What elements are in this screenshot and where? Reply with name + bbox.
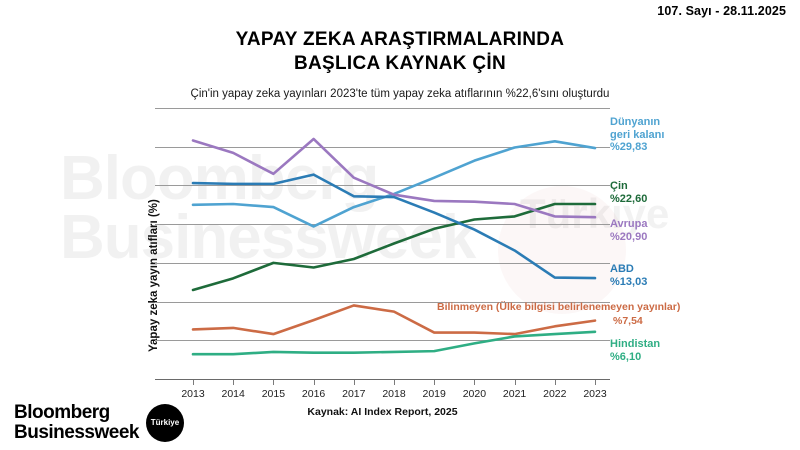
series-end-value: %22,60 xyxy=(610,193,647,206)
x-axis-tick xyxy=(394,380,395,385)
x-axis-tick xyxy=(595,380,596,385)
series-annotation: Hindistan%6,10 xyxy=(610,338,660,363)
series-end-value: %13,03 xyxy=(610,276,647,289)
series-annotation: Çin%22,60 xyxy=(610,180,647,205)
issue-date-label: 107. Sayı - 28.11.2025 xyxy=(657,4,786,18)
series-label-bilinmeyen: Bilinmeyen (Ülke bilgisi belirlenemeyen … xyxy=(437,301,680,313)
x-axis-tick xyxy=(515,380,516,385)
x-axis-tick-label: 2015 xyxy=(262,388,285,400)
series-end-value: %29,83 xyxy=(610,141,664,154)
chart-source: Kaynak: AI Index Report, 2025 xyxy=(155,406,610,418)
series-value-bilinmeyen: %7,54 xyxy=(613,315,643,327)
chart-subtitle: Çin'in yapay zeka yayınları 2023'te tüm … xyxy=(0,88,800,100)
logo-line-1: Bloomberg xyxy=(14,403,139,422)
x-axis-tick xyxy=(273,380,274,385)
series-label: Avrupa xyxy=(610,218,648,230)
series-label: Çin xyxy=(610,180,628,192)
x-axis-tick xyxy=(555,380,556,385)
x-axis-tick-label: 2014 xyxy=(222,388,245,400)
bloomberg-businessweek-logo: Bloomberg Businessweek Türkiye xyxy=(14,403,184,442)
x-axis-tick-label: 2013 xyxy=(181,388,204,400)
x-axis-tick xyxy=(314,380,315,385)
x-axis-tick-label: 2020 xyxy=(463,388,486,400)
x-axis-tick-label: 2018 xyxy=(382,388,405,400)
x-axis-tick xyxy=(354,380,355,385)
series-label: Hindistan xyxy=(610,338,660,350)
page-title: YAPAY ZEKA ARAŞTIRMALARINDA BAŞLICA KAYN… xyxy=(0,28,800,77)
series-end-value: %6,10 xyxy=(610,351,660,364)
x-axis-tick xyxy=(193,380,194,385)
x-axis-tick xyxy=(474,380,475,385)
logo-wordmark: Bloomberg Businessweek xyxy=(14,403,139,442)
x-axis-tick-label: 2021 xyxy=(503,388,526,400)
series-line xyxy=(193,332,595,354)
x-axis-tick-label: 2023 xyxy=(583,388,606,400)
series-label: ABD xyxy=(610,263,634,275)
series-line xyxy=(193,204,595,290)
series-end-value: %20,90 xyxy=(610,231,648,244)
series-label-line-2: geri kalanı xyxy=(610,129,664,142)
headline-line-2: BAŞLICA KAYNAK ÇİN xyxy=(0,52,800,76)
x-axis-tick-label: 2022 xyxy=(543,388,566,400)
x-axis-tick-label: 2017 xyxy=(342,388,365,400)
series-line xyxy=(193,175,595,279)
series-annotation: ABD%13,03 xyxy=(610,263,647,288)
x-axis-tick-label: 2019 xyxy=(423,388,446,400)
series-label: Dünyanın xyxy=(610,116,660,128)
x-axis-tick xyxy=(233,380,234,385)
series-annotation: Dünyanıngeri kalanı%29,83 xyxy=(610,116,664,154)
line-chart: Yapay zeka yayın atıfları (%) %0%5%10%15… xyxy=(155,108,610,380)
series-annotation: Avrupa%20,90 xyxy=(610,218,648,243)
series-lines xyxy=(155,108,610,380)
turkiye-badge: Türkiye xyxy=(146,404,184,442)
logo-line-2: Businessweek xyxy=(14,423,139,442)
x-axis-tick xyxy=(434,380,435,385)
x-axis-tick-label: 2016 xyxy=(302,388,325,400)
headline-line-1: YAPAY ZEKA ARAŞTIRMALARINDA xyxy=(0,28,800,52)
